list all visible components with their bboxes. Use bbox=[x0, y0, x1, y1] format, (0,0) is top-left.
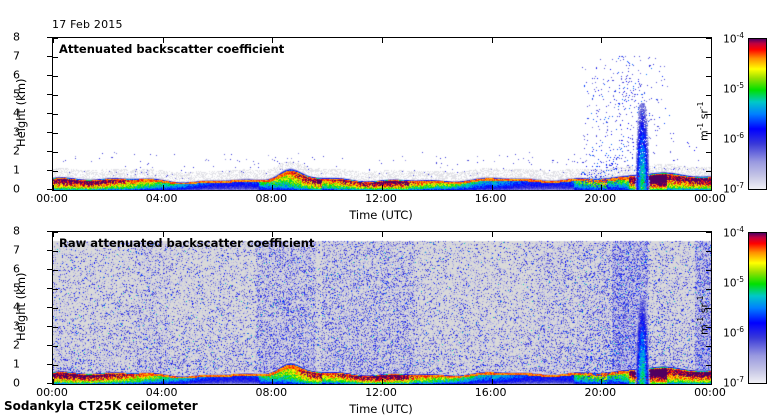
bottom-panel-inner-x-tick bbox=[272, 379, 273, 384]
bottom-panel-x-tick-label: 08:00 bbox=[255, 386, 287, 399]
top-panel-inner-y-tick bbox=[53, 57, 58, 58]
bottom-panel-x-tick-label: 12:00 bbox=[365, 386, 397, 399]
top-panel-inner-y-tick bbox=[706, 171, 711, 172]
bottom-panel-inner-y-tick bbox=[53, 251, 58, 252]
bottom-panel-x-tick-label: 04:00 bbox=[146, 386, 178, 399]
top-panel-y-tick-label: 8 bbox=[0, 31, 20, 44]
bottom-colorbar-gradient bbox=[748, 232, 767, 384]
bottom-panel-inner-y-tick bbox=[53, 308, 58, 309]
top-panel-inner-y-tick bbox=[53, 76, 58, 77]
top-panel-inner-x-tick bbox=[711, 38, 712, 43]
top-panel-inner-x-tick bbox=[272, 185, 273, 190]
bottom-panel-inner-x-tick bbox=[601, 379, 602, 384]
top-panel-y-axis: 012345678Height (km) bbox=[0, 37, 52, 189]
top-panel-inner-y-tick bbox=[706, 76, 711, 77]
top-panel-inner-x-tick bbox=[601, 38, 602, 43]
top-panel-inner-y-tick bbox=[706, 57, 711, 58]
top-panel-y-tick-label: 0 bbox=[0, 183, 20, 196]
bottom-panel-x-tick-label: 16:00 bbox=[475, 386, 507, 399]
top-panel-title: Attenuated backscatter coefficient bbox=[59, 42, 284, 56]
top-panel-inner-y-tick bbox=[53, 171, 58, 172]
top-panel-inner-y-tick bbox=[53, 114, 58, 115]
top-panel-x-tick-label: 00:00 bbox=[36, 192, 68, 205]
bottom-panel-y-tick-label: 8 bbox=[0, 225, 20, 238]
bottom-panel-inner-x-tick bbox=[382, 232, 383, 237]
top-colorbar-tick-label: 10-4 bbox=[708, 31, 744, 46]
top-panel-inner-y-tick bbox=[706, 95, 711, 96]
bottom-panel-inner-x-tick bbox=[492, 232, 493, 237]
top-panel-inner-x-tick bbox=[711, 185, 712, 190]
top-panel-x-tick-label: 16:00 bbox=[475, 192, 507, 205]
top-panel-x-tick-label: 12:00 bbox=[365, 192, 397, 205]
top-panel-y-tick-label: 7 bbox=[0, 50, 20, 63]
top-panel-inner-x-tick bbox=[53, 38, 54, 43]
top-panel-inner-y-tick bbox=[706, 114, 711, 115]
top-panel-inner-x-tick bbox=[492, 38, 493, 43]
bottom-panel-inner-x-tick bbox=[711, 232, 712, 237]
bottom-panel-inner-y-tick bbox=[53, 365, 58, 366]
bottom-panel-title: Raw attenuated backscatter coefficient bbox=[59, 236, 314, 250]
top-panel-inner-x-tick bbox=[53, 185, 54, 190]
top-panel-inner-y-tick bbox=[706, 152, 711, 153]
bottom-panel-inner-y-tick bbox=[53, 327, 58, 328]
top-panel-inner-x-tick bbox=[382, 185, 383, 190]
date-label: 17 Feb 2015 bbox=[52, 18, 123, 31]
bottom-panel-inner-x-tick bbox=[492, 379, 493, 384]
top-colorbar-tick-label: 10-6 bbox=[708, 131, 744, 146]
footer-instrument-label: Sodankyla CT25K ceilometer bbox=[4, 399, 198, 413]
bottom-panel-inner-y-tick bbox=[53, 270, 58, 271]
top-panel-x-tick-label: 08:00 bbox=[255, 192, 287, 205]
top-panel-x-axis: 00:0004:0008:0012:0016:0020:0000:00Time … bbox=[52, 191, 710, 225]
top-panel-inner-x-tick bbox=[382, 38, 383, 43]
bottom-panel-inner-y-tick bbox=[706, 346, 711, 347]
bottom-panel-inner-y-tick bbox=[706, 327, 711, 328]
top-panel-inner-y-tick bbox=[706, 133, 711, 134]
bottom-panel-y-tick-label: 1 bbox=[0, 358, 20, 371]
bottom-panel-x-axis-title: Time (UTC) bbox=[349, 402, 413, 416]
bottom-panel-y-tick-label: 7 bbox=[0, 244, 20, 257]
bottom-panel-x-tick-label: 20:00 bbox=[584, 386, 616, 399]
bottom-panel-y-axis: 012345678Height (km) bbox=[0, 231, 52, 383]
bottom-panel-inner-x-tick bbox=[711, 379, 712, 384]
top-panel-y-tick-label: 1 bbox=[0, 164, 20, 177]
top-panel-axes: Attenuated backscatter coefficient bbox=[52, 37, 712, 191]
top-panel-inner-y-tick bbox=[53, 95, 58, 96]
top-panel-y-axis-title: Height (km) bbox=[14, 78, 28, 147]
bottom-panel-inner-x-tick bbox=[53, 379, 54, 384]
bottom-panel-inner-x-tick bbox=[601, 232, 602, 237]
bottom-panel-inner-y-tick bbox=[53, 289, 58, 290]
bottom-panel-inner-y-tick bbox=[706, 365, 711, 366]
bottom-panel-inner-y-tick bbox=[706, 251, 711, 252]
bottom-panel-axes: Raw attenuated backscatter coefficient bbox=[52, 231, 712, 385]
bottom-panel-x-tick-label: 00:00 bbox=[36, 386, 68, 399]
top-panel-inner-y-tick bbox=[53, 133, 58, 134]
bottom-panel-y-tick-label: 0 bbox=[0, 377, 20, 390]
bottom-panel-inner-x-tick bbox=[382, 379, 383, 384]
top-panel-x-tick-label: 20:00 bbox=[584, 192, 616, 205]
top-colorbar-tick-label: 10-5 bbox=[708, 81, 744, 96]
top-panel-inner-x-tick bbox=[492, 185, 493, 190]
bottom-panel-inner-x-tick bbox=[53, 232, 54, 237]
bottom-panel-x-tick-label: 00:00 bbox=[694, 386, 726, 399]
top-panel-x-tick-label: 04:00 bbox=[146, 192, 178, 205]
bottom-panel-y-axis-title: Height (km) bbox=[14, 272, 28, 341]
bottom-panel-inner-y-tick bbox=[53, 346, 58, 347]
bottom-colorbar-tick-label: 10-5 bbox=[708, 275, 744, 290]
top-panel-inner-x-tick bbox=[163, 185, 164, 190]
bottom-colorbar-tick-label: 10-4 bbox=[708, 225, 744, 240]
top-panel-x-axis-title: Time (UTC) bbox=[349, 208, 413, 222]
top-panel-x-tick-label: 00:00 bbox=[694, 192, 726, 205]
top-colorbar-gradient bbox=[748, 38, 767, 190]
bottom-panel-inner-y-tick bbox=[706, 270, 711, 271]
bottom-panel-inner-x-tick bbox=[163, 379, 164, 384]
bottom-panel-inner-y-tick bbox=[706, 289, 711, 290]
top-panel-inner-x-tick bbox=[601, 185, 602, 190]
top-panel-inner-y-tick bbox=[53, 152, 58, 153]
bottom-panel-inner-y-tick bbox=[706, 308, 711, 309]
bottom-colorbar-tick-label: 10-6 bbox=[708, 325, 744, 340]
